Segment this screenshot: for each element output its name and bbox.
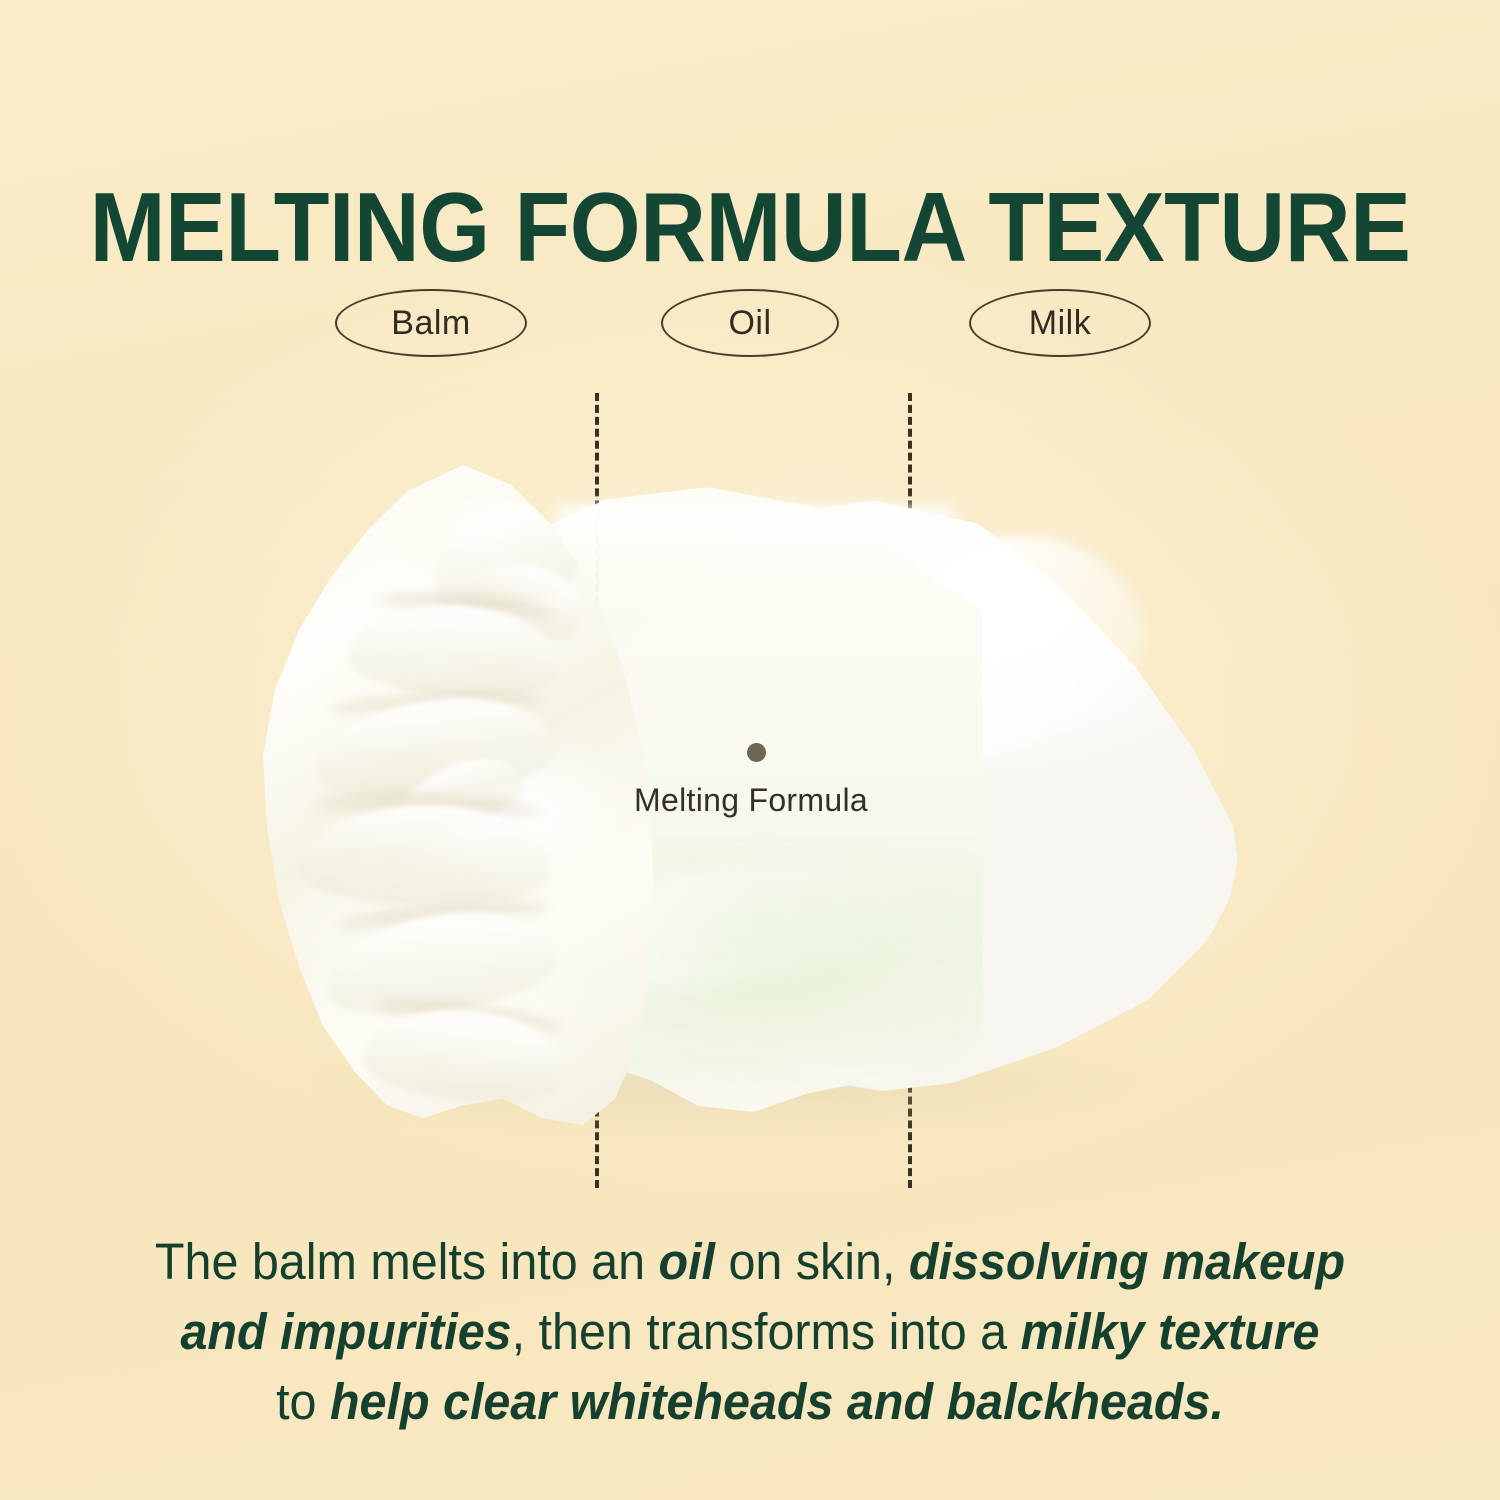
caption-line-3: to help clear whiteheads and balckheads.	[123, 1367, 1377, 1437]
oil-sheen-top	[555, 505, 955, 575]
caption-line3-emphasis-clear: help clear whiteheads and balckheads.	[330, 1373, 1224, 1430]
caption-line3-plain: to	[276, 1373, 330, 1430]
annotation-label: Melting Formula	[596, 782, 906, 819]
caption-line-2: and impurities, then transforms into a m…	[123, 1297, 1377, 1367]
infographic-page: MELTING FORMULA TEXTURE Balm Oil Milk	[0, 0, 1500, 1500]
caption-text: The balm melts into an oil on skin, diss…	[123, 1227, 1377, 1437]
stage-pill-milk-label: Milk	[1029, 304, 1091, 343]
page-title: MELTING FORMULA TEXTURE	[53, 178, 1448, 276]
caption-line1-emphasis-oil: oil	[658, 1233, 715, 1290]
caption-line1-plain-b: on skin,	[715, 1233, 909, 1290]
caption-line1-plain-a: The balm melts into an	[155, 1233, 659, 1290]
caption-line2-emphasis-milky: milky texture	[1021, 1303, 1320, 1360]
caption-line-1: The balm melts into an oil on skin, diss…	[123, 1227, 1377, 1297]
annotation-dot-icon	[747, 743, 766, 762]
stage-pill-balm-label: Balm	[391, 304, 470, 343]
stage-pill-milk: Milk	[969, 289, 1151, 357]
caption-line2-plain: , then transforms into a	[512, 1303, 1021, 1360]
caption-line2-emphasis-impurities: and impurities	[180, 1303, 511, 1360]
caption-line1-emphasis-dissolving: dissolving makeup	[909, 1233, 1345, 1290]
stage-pill-balm: Balm	[335, 289, 527, 357]
stage-pill-oil: Oil	[661, 289, 839, 357]
stage-pill-oil-label: Oil	[728, 304, 771, 343]
